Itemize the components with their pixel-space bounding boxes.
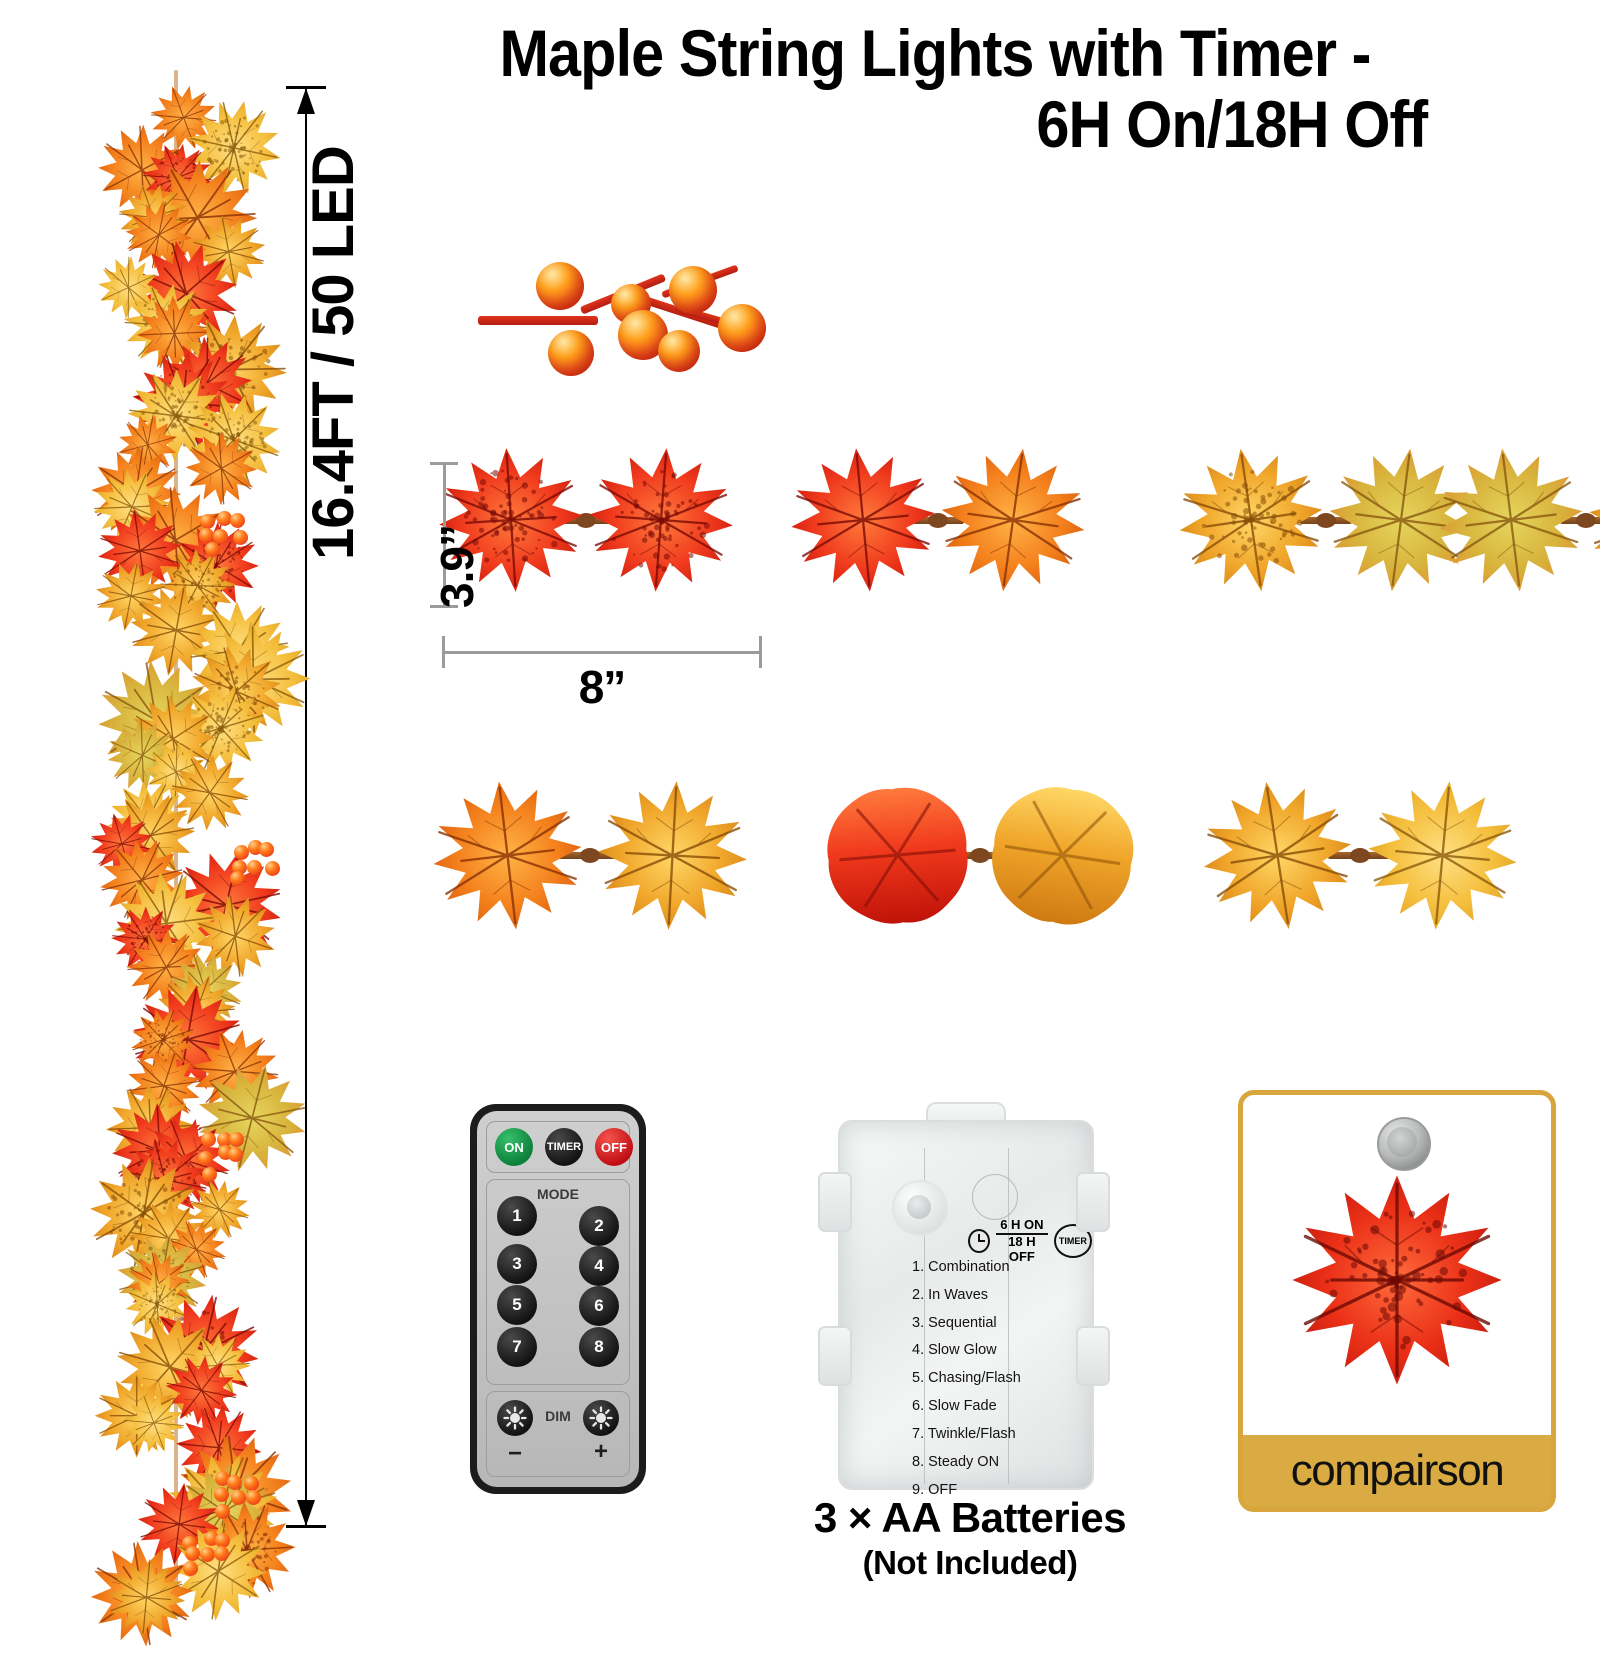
maple-leaf	[820, 780, 975, 930]
title-line-2: 6H On/18H Off	[427, 89, 1444, 160]
maple-leaf	[1176, 445, 1326, 595]
list-item: 6. Slow Fade	[912, 1393, 1021, 1421]
leaf-span-dimension-line	[442, 644, 762, 660]
leaf-pair	[820, 770, 1140, 940]
list-item: 4. Slow Glow	[912, 1337, 1021, 1365]
garland-berry	[244, 1476, 259, 1491]
garland-berry	[229, 1132, 244, 1147]
battery-box-clip-right-top	[1076, 1172, 1110, 1232]
remote-mode-button-6[interactable]: 6	[579, 1286, 619, 1326]
remote-dim-group: DIM	[486, 1391, 630, 1477]
remote-mode-button-4[interactable]: 4	[579, 1246, 619, 1286]
quarter-coin	[1377, 1117, 1431, 1171]
garland-berry	[202, 1167, 217, 1182]
maple-leaf	[430, 778, 585, 933]
remote-mode-button-8[interactable]: 8	[579, 1327, 619, 1367]
maple-leaf	[1586, 445, 1600, 595]
comparison-leaf	[1269, 1171, 1525, 1389]
clock-icon	[968, 1229, 990, 1253]
battery-box-clip-right-bottom	[1076, 1326, 1110, 1386]
remote-power-row: ON TIMER OFF	[486, 1121, 630, 1173]
list-item: 8. Steady ON	[912, 1449, 1021, 1477]
remote-off-button[interactable]: OFF	[595, 1128, 633, 1166]
remote-mode-button-5[interactable]: 5	[497, 1285, 537, 1325]
battery-box-dial	[972, 1174, 1018, 1220]
garland-berry	[230, 871, 245, 886]
maple-leaf	[595, 778, 750, 933]
garland-berry	[201, 1132, 216, 1147]
battery-box[interactable]: 6 H ON 18 H OFF TIMER 1. Combination 2. …	[818, 1098, 1110, 1490]
leaf-height-label: 3.9”	[430, 525, 484, 608]
list-item: 3. Sequential	[912, 1310, 1021, 1338]
garland-berry	[265, 861, 280, 876]
maple-leaf	[1436, 445, 1586, 595]
berry-cluster	[478, 248, 778, 398]
maple-leaf	[938, 445, 1088, 595]
battery-caption-line-2: (Not Included)	[700, 1544, 1240, 1582]
garland-berry	[246, 1490, 261, 1505]
garland-berry	[215, 1504, 230, 1519]
remote-on-button[interactable]: ON	[495, 1128, 533, 1166]
garland-berry	[231, 1490, 246, 1505]
garland-berry	[185, 1546, 200, 1561]
battery-box-body: 6 H ON 18 H OFF TIMER 1. Combination 2. …	[838, 1120, 1094, 1490]
berry	[548, 330, 594, 376]
berry	[536, 262, 584, 310]
comparison-label-bar: compairson	[1243, 1435, 1551, 1507]
garland-berry	[200, 1547, 215, 1562]
garland-berry	[200, 514, 215, 529]
berry-stem	[478, 316, 598, 325]
remote-control[interactable]: ON TIMER OFF MODE 1 2 3 4 5 6 7 8 DIM	[470, 1104, 646, 1494]
remote-dim-up-button[interactable]	[583, 1400, 619, 1436]
title-line-1: Maple String Lights with Timer -	[499, 16, 1370, 90]
leaf-span-label: 8”	[442, 660, 762, 714]
leaf-pair	[788, 440, 1088, 600]
maple-leaf	[586, 445, 736, 595]
battery-box-mode-list: 1. Combination 2. In Waves 3. Sequential…	[912, 1254, 1021, 1504]
remote-mode-button-3[interactable]: 3	[497, 1244, 537, 1284]
maple-leaf	[985, 780, 1140, 930]
brightness-icon	[503, 1406, 527, 1430]
list-item: 7. Twinkle/Flash	[912, 1421, 1021, 1449]
page-title: Maple String Lights with Timer - 6H On/1…	[427, 18, 1444, 161]
battery-caption-line-1: 3 × AA Batteries	[700, 1494, 1240, 1542]
leaf-pair	[430, 770, 750, 940]
list-item: 2. In Waves	[912, 1282, 1021, 1310]
list-item: 5. Chasing/Flash	[912, 1365, 1021, 1393]
remote-dim-down-button[interactable]	[497, 1400, 533, 1436]
leaf-strand-row-2	[430, 770, 1590, 940]
garland-berry	[230, 513, 245, 528]
berry	[718, 304, 766, 352]
leaf-strand-row-1	[436, 440, 1586, 600]
remote-mode-button-2[interactable]: 2	[579, 1206, 619, 1246]
remote-on-label: ON	[504, 1140, 524, 1155]
comparison-label: compairson	[1291, 1446, 1503, 1496]
garland-berry	[205, 542, 220, 557]
garland-berry	[214, 1487, 229, 1502]
remote-mode-group: MODE 1 2 3 4 5 6 7 8	[486, 1179, 630, 1385]
remote-timer-button[interactable]: TIMER	[545, 1128, 583, 1166]
leaf-pair	[1436, 440, 1600, 600]
size-comparison-card: compairson	[1238, 1090, 1556, 1512]
list-item: 1. Combination	[912, 1254, 1021, 1282]
remote-minus-label: −	[508, 1440, 522, 1468]
garland-berry	[233, 530, 248, 545]
battery-box-clip-left-bottom	[818, 1326, 852, 1386]
brightness-icon	[589, 1406, 613, 1430]
remote-plus-label: +	[594, 1438, 608, 1466]
battery-box-clip-left-top	[818, 1172, 852, 1232]
maple-leaf	[1200, 778, 1355, 933]
garland-leaf	[106, 1557, 187, 1638]
battery-caption: 3 × AA Batteries (Not Included)	[700, 1494, 1240, 1582]
maple-garland-strand	[78, 70, 278, 1590]
maple-leaf	[1365, 778, 1520, 933]
berry	[658, 330, 700, 372]
garland-berry	[214, 1546, 229, 1561]
remote-timer-label: TIMER	[547, 1141, 581, 1153]
remote-off-label: OFF	[601, 1140, 627, 1155]
leaf-pair	[1200, 770, 1520, 940]
garland-length-label: 16.4FT / 50 LED	[300, 146, 367, 560]
berry	[669, 266, 717, 314]
remote-mode-button-7[interactable]: 7	[497, 1327, 537, 1367]
maple-leaf	[788, 445, 938, 595]
timer-on-text: 6 H ON	[996, 1218, 1048, 1235]
garland-berry	[234, 845, 249, 860]
remote-mode-button-1[interactable]: 1	[497, 1196, 537, 1236]
battery-box-switch[interactable]	[892, 1180, 948, 1236]
